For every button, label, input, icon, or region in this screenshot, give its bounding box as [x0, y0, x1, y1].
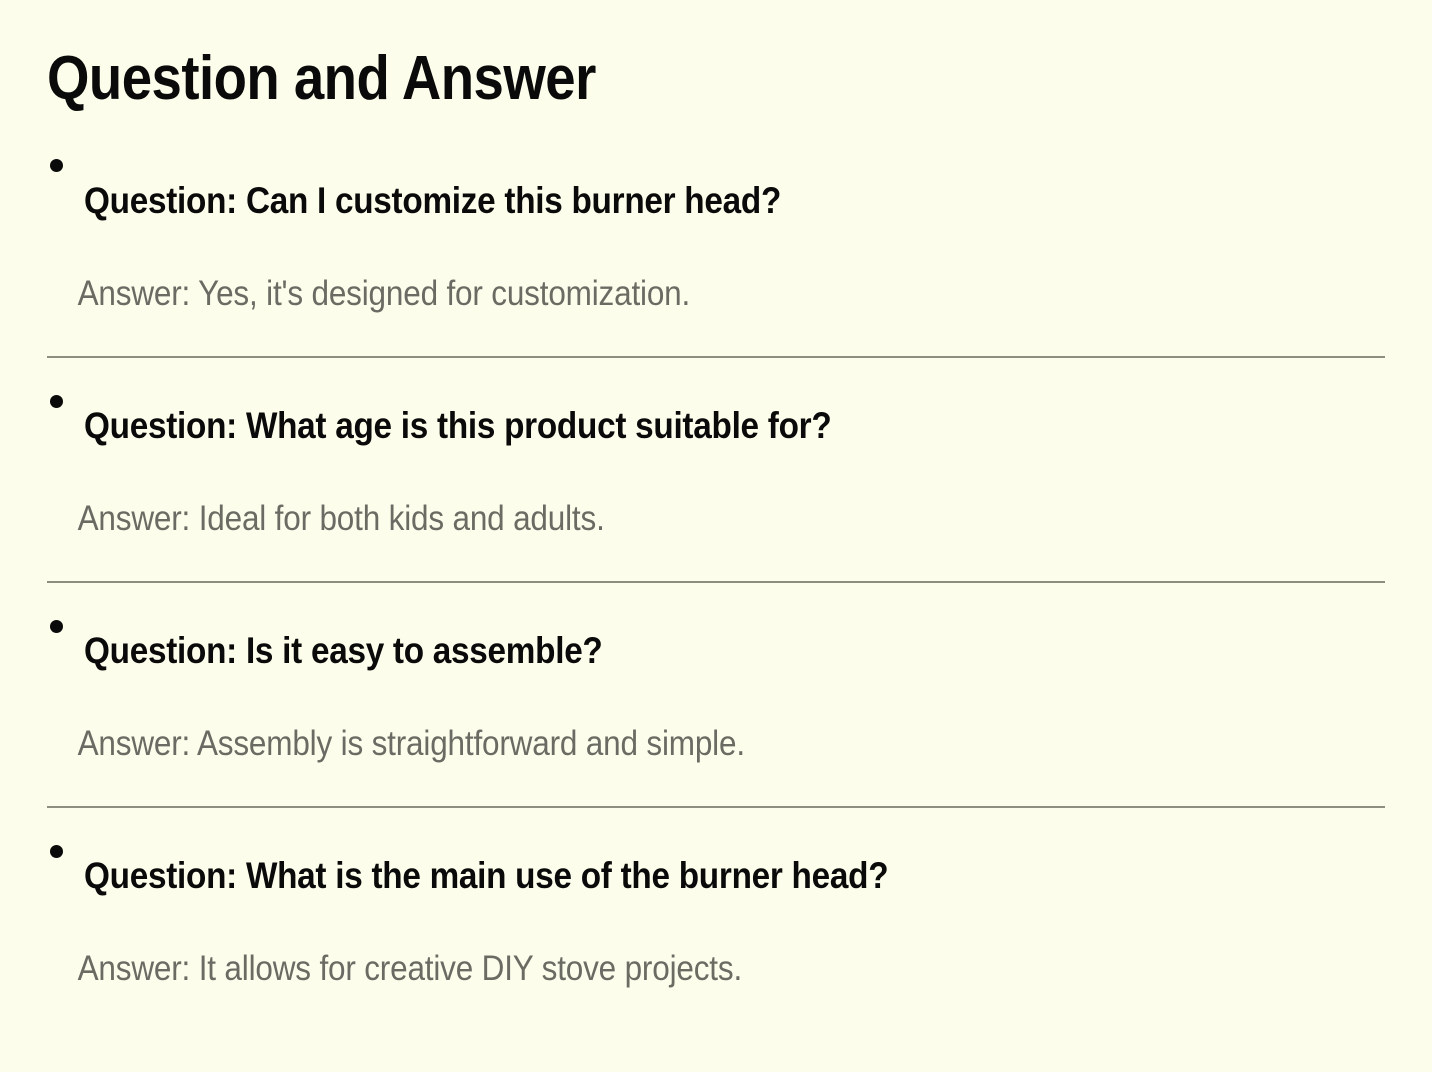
question-text: Question: Is it easy to assemble?: [84, 632, 1255, 669]
answer-row: Answer: Assembly is straightforward and …: [47, 669, 1385, 806]
question-text: Question: What age is this product suita…: [84, 407, 1255, 444]
answer-text: Answer: Yes, it's designed for customiza…: [47, 276, 1251, 311]
question-row: Question: Is it easy to assemble?: [47, 583, 1385, 669]
bullet-icon: [50, 620, 63, 633]
qa-item: Question: What is the main use of the bu…: [47, 806, 1385, 1031]
answer-text: Answer: Assembly is straightforward and …: [47, 726, 1251, 761]
qa-item: Question: Can I customize this burner he…: [47, 110, 1385, 356]
question-row: Question: What is the main use of the bu…: [47, 808, 1385, 894]
bullet-icon: [50, 845, 63, 858]
question-text: Question: Can I customize this burner he…: [84, 182, 1255, 219]
question-row: Question: What age is this product suita…: [47, 358, 1385, 444]
question-row: Question: Can I customize this burner he…: [47, 110, 1385, 219]
answer-text: Answer: Ideal for both kids and adults.: [47, 501, 1251, 536]
answer-row: Answer: Yes, it's designed for customiza…: [47, 219, 1385, 356]
qa-list: Question: Can I customize this burner he…: [47, 110, 1385, 1031]
answer-row: Answer: It allows for creative DIY stove…: [47, 894, 1385, 1031]
answer-text: Answer: It allows for creative DIY stove…: [47, 951, 1251, 986]
page-title: Question and Answer: [47, 0, 1224, 110]
qa-page: Question and Answer Question: Can I cust…: [0, 0, 1432, 1072]
qa-item: Question: What age is this product suita…: [47, 356, 1385, 581]
answer-row: Answer: Ideal for both kids and adults.: [47, 444, 1385, 581]
bullet-icon: [50, 159, 63, 172]
bullet-icon: [50, 395, 63, 408]
qa-item: Question: Is it easy to assemble? Answer…: [47, 581, 1385, 806]
question-text: Question: What is the main use of the bu…: [84, 857, 1255, 894]
